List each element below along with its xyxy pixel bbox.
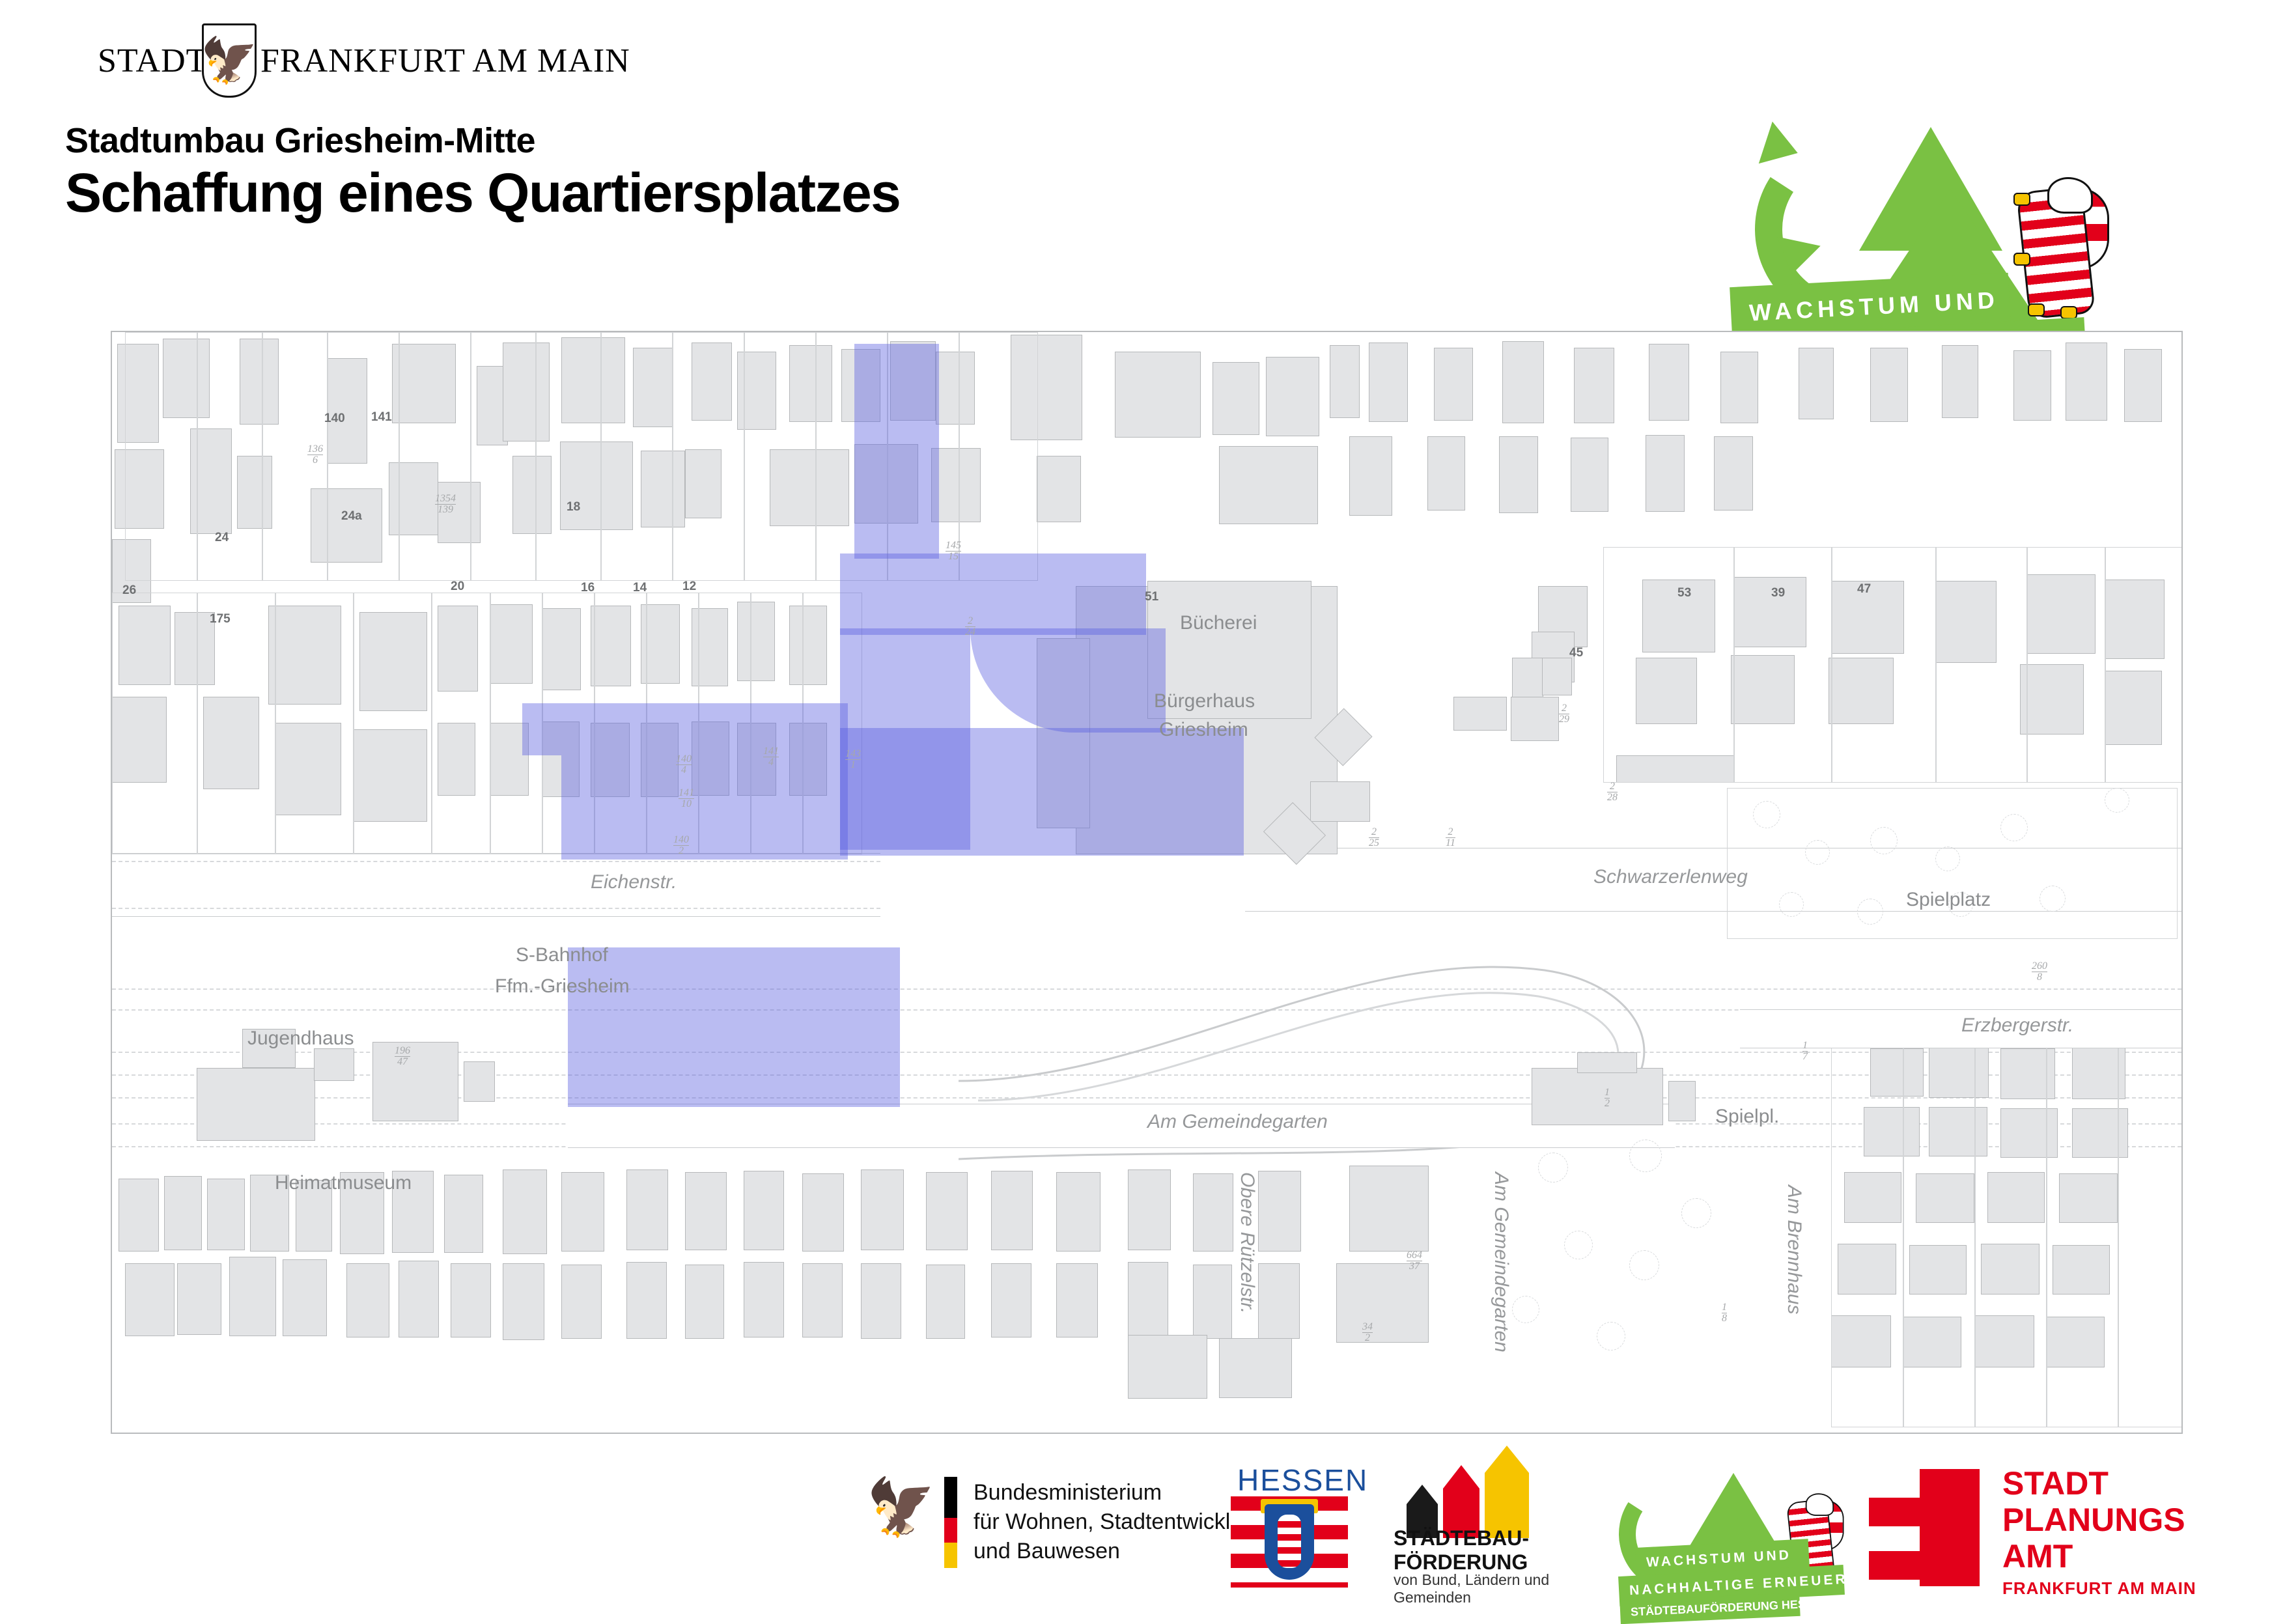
parcel-fraction: 1354139 xyxy=(435,494,456,516)
poi-buergerhaus: Bürgerhaus xyxy=(1154,690,1255,712)
highlight-quartiersplatz-west xyxy=(522,703,848,755)
street-label-am-gemeindegarten-vertical: Am Gemeindegarten xyxy=(1490,1172,1512,1352)
highlight-quartiersplatz-plaza xyxy=(840,728,1244,856)
highlight-quartiersplatz-mid xyxy=(840,553,1146,635)
highlight-quartiersplatz-north xyxy=(854,344,939,559)
house-number: 51 xyxy=(1145,590,1158,604)
parcel-fraction: 14515 xyxy=(946,540,961,563)
parcel-fraction: 224 xyxy=(965,616,975,638)
wachstum-erneuerung-logo-small: WACHSTUM UND NACHHALTIGE ERNEUERUNG STÄD… xyxy=(1595,1466,1875,1590)
project-subtitle: Stadtumbau Griesheim-Mitte xyxy=(65,120,535,161)
stfo-sub1: von Bund, Ländern und xyxy=(1394,1571,1549,1589)
house-number: 20 xyxy=(451,580,464,594)
parcel-fraction: 12 xyxy=(1605,1087,1610,1110)
parcel-fraction: 14110 xyxy=(679,788,694,810)
parcel-fraction: 1431 xyxy=(845,749,861,771)
map-canvas[interactable]: Bücherei Bürgerhaus Griesheim Spielplatz… xyxy=(112,332,2181,1433)
poi-buecherei: Bücherei xyxy=(1180,612,1257,634)
stfo-line1: STÄDTEBAU- xyxy=(1394,1526,1529,1550)
street-label-am-gemeindegarten: Am Gemeindegarten xyxy=(1147,1111,1328,1133)
house-number: 47 xyxy=(1857,582,1871,596)
frankfurt-eagle-shield-icon: 🦅 xyxy=(202,23,257,98)
poi-jugendhaus: Jugendhaus xyxy=(247,1028,354,1050)
poi-buergerhaus-2: Griesheim xyxy=(1159,719,1248,741)
house-yellow-icon xyxy=(1485,1446,1529,1538)
stadtplanungsamt-wordmark: STADT PLANUNGS AMT xyxy=(2002,1465,2185,1575)
spa-subtitle: FRANKFURT AM MAIN xyxy=(2002,1578,2196,1599)
house-number: 24a xyxy=(341,509,362,524)
parcel-fraction: 17 xyxy=(1802,1041,1808,1063)
stfo-sub2: Gemeinden xyxy=(1394,1589,1549,1607)
bundesadler-icon: 🦅 xyxy=(866,1479,936,1535)
house-number: 18 xyxy=(567,500,580,514)
city-logo-word2: FRANKFURT AM MAIN xyxy=(260,42,630,80)
hessen-lion-icon xyxy=(1278,1515,1301,1568)
poi-spielplatz: Spielplatz xyxy=(1906,889,1991,911)
street-label-schwarzerlenweg: Schwarzerlenweg xyxy=(1593,866,1748,888)
house-number: 45 xyxy=(1569,646,1583,660)
street-label-erzbergerstr: Erzbergerstr. xyxy=(1961,1015,2073,1037)
parcel-fraction: 229 xyxy=(1559,703,1569,725)
poi-s-bahnhof-2: Ffm.-Griesheim xyxy=(495,975,630,998)
spa-line3: AMT xyxy=(2002,1538,2185,1575)
parcel-fraction: 66437 xyxy=(1407,1250,1422,1272)
parcel-fraction: 1414 xyxy=(763,746,779,768)
house-number: 39 xyxy=(1771,586,1785,600)
parcel-fraction: 342 xyxy=(1362,1322,1373,1344)
parcel-fraction: 18 xyxy=(1722,1302,1727,1324)
stadtplanungsamt-logo: STADT PLANUNGS AMT FRANKFURT AM MAIN xyxy=(1869,1463,2221,1606)
cadastral-map[interactable]: Bücherei Bürgerhaus Griesheim Spielplatz… xyxy=(111,331,2183,1434)
parcel-fraction: 19647 xyxy=(395,1046,410,1068)
city-logo-word1: STADT xyxy=(98,42,207,80)
house-number: 14 xyxy=(633,581,647,595)
staedtebaufoerderung-subtitle: von Bund, Ländern und Gemeinden xyxy=(1394,1571,1549,1607)
parcel-fraction: 1402 xyxy=(673,835,689,857)
spa-line2: PLANUNGS xyxy=(2002,1502,2185,1538)
road-am-gemeindegarten xyxy=(568,1104,1675,1148)
house-number: 12 xyxy=(682,580,696,594)
hessen-wordmark: HESSEN xyxy=(1237,1463,1368,1498)
parcel-fraction: 1366 xyxy=(307,444,323,466)
page-header: STADT 🦅 FRANKFURT AM MAIN Stadtumbau Gri… xyxy=(0,0,2285,326)
staedtebaufoerderung-title: STÄDTEBAU- FÖRDERUNG xyxy=(1394,1526,1529,1575)
bundesministerium-logo: 🦅 Bundesministerium für Wohnen, Stadtent… xyxy=(866,1465,1270,1582)
parcel-fraction: 1404 xyxy=(676,754,692,776)
house-number: 53 xyxy=(1677,586,1691,600)
street-label-eichenstr: Eichenstr. xyxy=(591,871,677,893)
parcel-fraction: 2608 xyxy=(2032,961,2047,983)
spa-line1: STADT xyxy=(2002,1465,2185,1502)
street-label-obere-ruetzelstr: Obere Rützelstr. xyxy=(1236,1172,1258,1313)
footer-logos: 🦅 Bundesministerium für Wohnen, Stadtent… xyxy=(0,1452,2285,1615)
highlight-quartiersplatz-westlow xyxy=(561,755,848,860)
house-number: 175 xyxy=(210,612,231,626)
street-label-am-brennhaus: Am Brennhaus xyxy=(1783,1185,1805,1314)
staedtebaufoerderung-logo: STÄDTEBAU- FÖRDERUNG von Bund, Ländern u… xyxy=(1394,1465,1608,1595)
poi-spielpl: Spielpl. xyxy=(1715,1106,1779,1128)
hessen-lion-icon xyxy=(2011,176,2109,329)
stadt-frankfurt-logo: STADT 🦅 FRANKFURT AM MAIN xyxy=(98,33,521,85)
house-number: 140 xyxy=(324,412,345,426)
stadtplanungsamt-mark-icon xyxy=(1869,1469,1980,1586)
parcel-fraction: 211 xyxy=(1446,827,1455,849)
house-number: 141 xyxy=(371,410,392,425)
page-title: Schaffung eines Quartiersplatzes xyxy=(65,161,900,225)
house-number: 26 xyxy=(122,583,136,598)
hessen-logo: HESSEN xyxy=(1218,1463,1367,1593)
highlight-quartiersplatz-south xyxy=(568,947,900,1107)
german-flag-bar xyxy=(944,1477,957,1568)
poi-s-bahnhof: S-Bahnhof xyxy=(516,944,608,966)
house-number: 16 xyxy=(581,581,595,595)
house-number: 24 xyxy=(215,531,229,545)
parcel-fraction: 225 xyxy=(1369,827,1379,849)
parcel-fraction: 228 xyxy=(1607,781,1618,804)
poi-heimatmuseum: Heimatmuseum xyxy=(275,1172,412,1194)
